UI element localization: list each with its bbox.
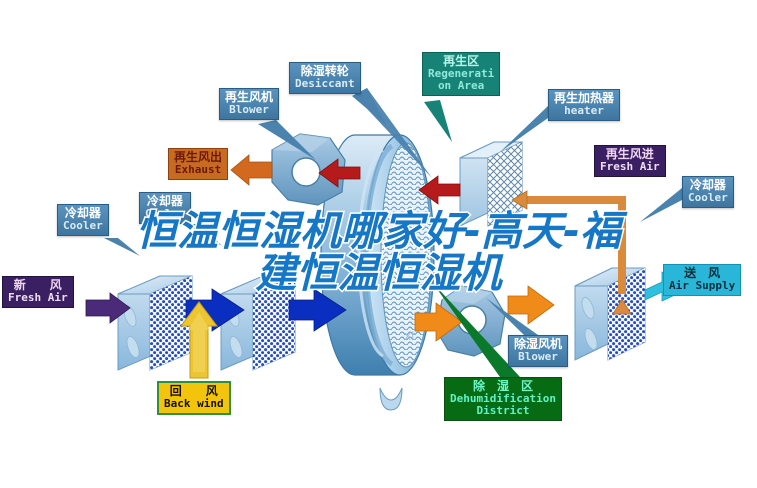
label-dehumid-blower[interactable]: 除湿风机 Blower (508, 335, 568, 367)
label-regen-blower[interactable]: 再生风机 Blower (219, 88, 279, 120)
label-regen-fresh-air-en: Fresh Air (600, 161, 660, 173)
label-exhaust[interactable]: 再生风出 Exhaust (168, 148, 228, 180)
label-desiccant-wheel-en: Desiccant (295, 78, 355, 90)
label-cooler-right[interactable]: 冷却器 Cooler (682, 176, 734, 208)
label-cooler-left-outer-cn: 冷却器 (63, 207, 103, 220)
label-fresh-air-en: Fresh Air (8, 292, 68, 304)
label-fresh-air-cn: 新 风 (8, 279, 68, 292)
label-dehumidification-district-cn: 除 湿 区 (450, 380, 556, 393)
cooler-unit-left-inner (221, 276, 295, 370)
label-desiccant-wheel-cn: 除湿转轮 (295, 65, 355, 78)
label-regen-fresh-air-cn: 再生风进 (600, 148, 660, 161)
diagram-canvas: xt (0, 0, 757, 488)
label-air-supply-cn: 送 风 (669, 267, 735, 280)
label-back-wind[interactable]: 回 风 Back wind (157, 381, 231, 415)
label-regen-fresh-air[interactable]: 再生风进 Fresh Air (594, 145, 666, 177)
label-regeneration-area-cn: 再生区 (428, 55, 494, 68)
label-back-wind-cn: 回 风 (164, 385, 224, 398)
label-regeneration-area[interactable]: 再生区 Regenerati on Area (422, 52, 500, 96)
label-regen-blower-cn: 再生风机 (225, 91, 273, 104)
label-cooler-left-inner[interactable]: 冷却器 Cooler (139, 192, 191, 224)
label-dehumidification-district[interactable]: 除 湿 区 Dehumidification District (444, 377, 562, 421)
label-regen-heater[interactable]: 再生加热器 heater (548, 89, 620, 121)
schematic-graphics: xt (0, 0, 757, 488)
label-regen-blower-en: Blower (225, 104, 273, 116)
label-regeneration-area-en-2: on Area (428, 80, 494, 92)
label-air-supply-en: Air Supply (669, 280, 735, 292)
supply-cooler-unit (575, 268, 645, 360)
exhaust-arrow (231, 155, 272, 185)
label-cooler-left-outer[interactable]: 冷却器 Cooler (57, 204, 109, 236)
regeneration-heater-unit (460, 142, 522, 226)
cooler-unit-left-outer (118, 276, 192, 370)
label-fresh-air[interactable]: 新 风 Fresh Air (2, 276, 74, 308)
label-exhaust-en: Exhaust (174, 164, 222, 176)
label-back-wind-en: Back wind (164, 398, 224, 410)
svg-text:xt: xt (404, 329, 416, 343)
label-cooler-left-inner-cn: 冷却器 (145, 195, 185, 208)
label-desiccant-wheel[interactable]: 除湿转轮 Desiccant (289, 62, 361, 94)
label-cooler-left-outer-en: Cooler (63, 220, 103, 232)
label-cooler-right-cn: 冷却器 (688, 179, 728, 192)
label-dehumid-blower-en: Blower (514, 351, 562, 363)
label-air-supply[interactable]: 送 风 Air Supply (663, 264, 741, 296)
label-cooler-right-en: Cooler (688, 192, 728, 204)
label-regen-heater-en: heater (554, 105, 614, 117)
label-exhaust-cn: 再生风出 (174, 151, 222, 164)
label-regen-heater-cn: 再生加热器 (554, 92, 614, 105)
label-cooler-left-inner-en: Cooler (145, 208, 185, 220)
label-dehumidification-district-en-2: District (450, 405, 556, 417)
dry-air-arrow-2 (508, 286, 554, 324)
label-dehumid-blower-cn: 除湿风机 (514, 338, 562, 351)
